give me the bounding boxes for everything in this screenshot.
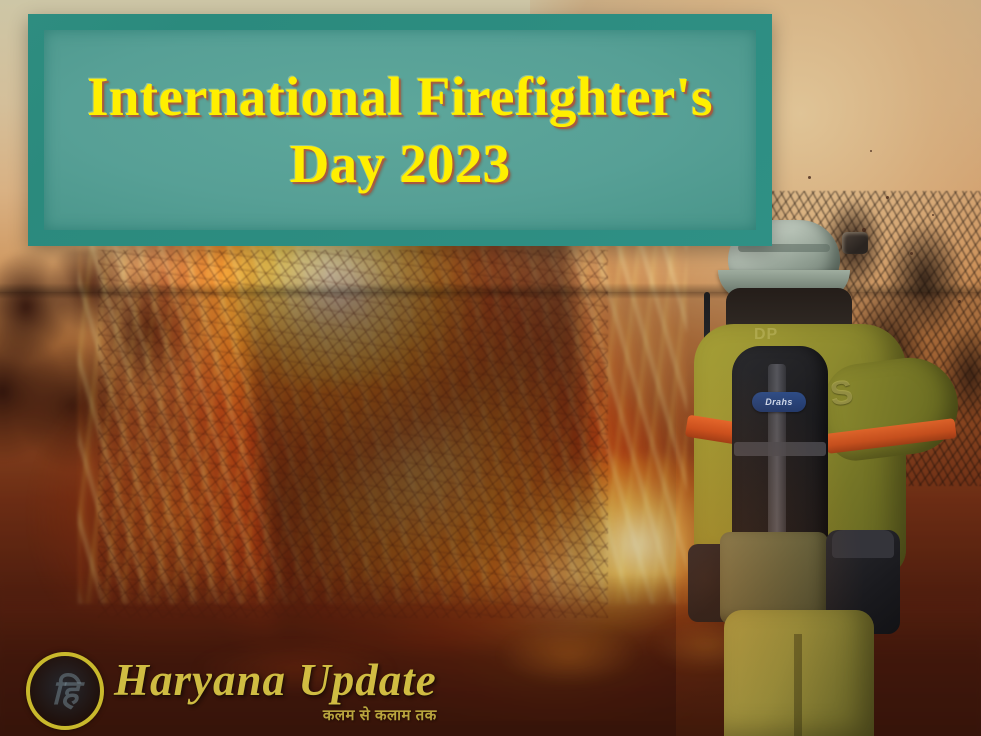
watermark-logo-icon: हि <box>26 652 104 730</box>
poster-canvas: OS DP Drahs International Firefighter's … <box>0 0 981 736</box>
gear-pouch-right-lid <box>832 530 894 558</box>
watermark-logo-glyph: हि <box>52 668 79 714</box>
title-banner-inner: International Firefighter's Day 2023 <box>44 30 756 230</box>
page-title: International Firefighter's Day 2023 <box>69 63 731 197</box>
backpack-brand-badge: Drahs <box>752 392 806 412</box>
backpack-strap-horizontal <box>734 442 826 456</box>
firefighter-figure: OS DP Drahs <box>676 214 962 736</box>
watermark-text-block: Haryana Update कलम से कलाम तक <box>114 658 437 725</box>
watermark: हि Haryana Update कलम से कलाम तक <box>26 652 437 730</box>
trouser-seam <box>794 634 802 736</box>
backpack-brand-label: Drahs <box>765 397 793 407</box>
jacket-shoulder-marking: DP <box>754 326 778 344</box>
title-banner: International Firefighter's Day 2023 <box>28 14 772 246</box>
watermark-tagline: कलम से कलाम तक <box>114 705 437 725</box>
watermark-brand-name: Haryana Update <box>114 658 437 703</box>
helmet-lamp-icon <box>842 232 868 254</box>
